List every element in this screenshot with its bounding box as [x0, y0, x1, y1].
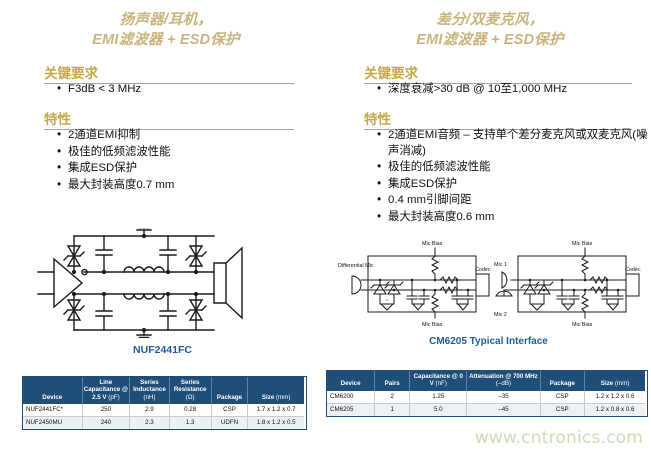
- list-item: 最大封装高度0.7 mm: [56, 178, 306, 194]
- left-spec-table-wrapper: Device Line Capacitance @ 2.5 V (pF) Ser…: [22, 376, 307, 430]
- cell: CM6205: [327, 403, 375, 416]
- table-row: CM6200 2 1.25 –35 CSP 1.2 x 1.2 x 0.6: [327, 391, 645, 404]
- table-row: NUF2450MU 240 2.3 1.3 UDFN 1.8 x 1.2 x 0…: [23, 417, 304, 430]
- right-title-line2: EMI滤波器 + ESD保护: [340, 30, 640, 50]
- col-header-capacitance: Capacitance @ 0 V (nF): [410, 371, 467, 391]
- col-header-pairs: Pairs: [375, 371, 410, 391]
- left-key-requirements-list: F3dB < 3 MHz: [56, 82, 306, 99]
- cell: 1.8 x 1.2 x 0.5: [248, 417, 304, 430]
- cell: CM6200: [327, 391, 375, 404]
- cell: 1.2 x 1.2 x 0.6: [585, 391, 645, 404]
- list-item: 集成ESD保护: [376, 177, 648, 193]
- left-key-requirements-heading: 关键要求: [44, 62, 294, 84]
- site-watermark: www.cntronics.com: [475, 428, 643, 448]
- list-item: 极佳的低频滤波性能: [376, 160, 648, 176]
- mic1-label: Mic 1: [494, 262, 507, 268]
- table-row: NUF2441FC* 250 2.9 0.28 CSP 1.7 x 1.2 x …: [23, 404, 304, 417]
- col-header-device: Device: [23, 377, 82, 404]
- right-features-list: 2通道EMI音频 – 支持单个差分麦克风或双麦克风(噪声消减) 极佳的低频滤波性…: [376, 128, 648, 226]
- cm6205-schematic-svg: Differential Mic Mic Bias Mic Bias Codec: [330, 238, 650, 333]
- cell: 1.7 x 1.2 x 0.7: [248, 404, 304, 417]
- left-features-heading: 特性: [44, 108, 294, 130]
- mic2-label: Mic 2: [494, 312, 507, 318]
- cell: NUF2450MU: [23, 417, 82, 430]
- cell: 1.3: [169, 417, 211, 430]
- cell: 0.28: [169, 404, 211, 417]
- codec-label-b: Codec: [625, 267, 641, 273]
- col-header-package: Package: [211, 377, 248, 404]
- list-item: 深度衰减>30 dB @ 10至1,000 MHz: [376, 82, 648, 98]
- left-column: 扬声器/耳机， EMI滤波器 + ESD保护 关键要求 F3dB < 3 MHz…: [0, 0, 325, 452]
- right-column: 差分/双麦克风， EMI滤波器 + ESD保护 关键要求 深度衰减>30 dB …: [326, 0, 651, 452]
- cell: NUF2441FC*: [23, 404, 82, 417]
- col-header-line-capacitance: Line Capacitance @ 2.5 V (pF): [82, 377, 130, 404]
- list-item: 极佳的低频滤波性能: [56, 145, 306, 161]
- list-item: 2通道EMI音频 – 支持单个差分麦克风或双麦克风(噪声消减): [376, 128, 648, 159]
- list-item: 0.4 mm引脚间距: [376, 193, 648, 209]
- list-item: F3dB < 3 MHz: [56, 82, 306, 98]
- cell: 1: [375, 403, 410, 416]
- right-features-heading: 特性: [364, 108, 632, 130]
- codec-label-a: Codec: [475, 267, 491, 273]
- cell: –35: [467, 391, 540, 404]
- nuf2441fc-schematic-svg: [36, 228, 296, 338]
- col-header-size: Size (mm): [585, 371, 645, 391]
- right-spec-table: Device Pairs Capacitance @ 0 V (nF) Atte…: [327, 371, 645, 416]
- slide-page: 扬声器/耳机， EMI滤波器 + ESD保护 关键要求 F3dB < 3 MHz…: [0, 0, 651, 452]
- cell: 2: [375, 391, 410, 404]
- mic-bias-bottom-label-a: Mic Bias: [422, 322, 443, 328]
- left-title-line1: 扬声器/耳机，: [18, 10, 314, 30]
- cell: 1.25: [410, 391, 467, 404]
- left-title: 扬声器/耳机， EMI滤波器 + ESD保护: [18, 10, 314, 50]
- left-title-line2: EMI滤波器 + ESD保护: [18, 30, 314, 50]
- mic-bias-top-label-b: Mic Bias: [572, 241, 593, 247]
- cell: 2.3: [130, 417, 169, 430]
- col-header-device: Device: [327, 371, 375, 391]
- cell: UDFN: [211, 417, 248, 430]
- list-item: 最大封装高度0.6 mm: [376, 210, 648, 226]
- mic-bias-bottom-label-b: Mic Bias: [572, 322, 593, 328]
- mic-bias-top-label-a: Mic Bias: [422, 241, 443, 247]
- right-title: 差分/双麦克风， EMI滤波器 + ESD保护: [340, 10, 640, 50]
- left-spec-table: Device Line Capacitance @ 2.5 V (pF) Ser…: [23, 377, 304, 429]
- list-item: 2通道EMI抑制: [56, 128, 306, 144]
- cell: 240: [82, 417, 130, 430]
- right-title-line1: 差分/双麦克风，: [340, 10, 640, 30]
- cell: CSP: [540, 391, 585, 404]
- col-header-series-inductance: Series Inductance (nH): [130, 377, 169, 404]
- right-key-requirements-heading: 关键要求: [364, 62, 632, 84]
- cell: 250: [82, 404, 130, 417]
- right-key-requirements-list: 深度衰减>30 dB @ 10至1,000 MHz: [376, 82, 648, 99]
- col-header-series-resistance: Series Resistance (Ω): [169, 377, 211, 404]
- left-features-list: 2通道EMI抑制 极佳的低频滤波性能 集成ESD保护 最大封装高度0.7 mm: [56, 128, 306, 194]
- cell: CSP: [540, 403, 585, 416]
- left-part-label: NUF2441FC: [0, 344, 325, 356]
- col-header-size: Size (mm): [248, 377, 304, 404]
- left-schematic-diagram: [36, 228, 296, 338]
- right-spec-table-wrapper: Device Pairs Capacitance @ 0 V (nF) Atte…: [326, 370, 648, 417]
- cell: –45: [467, 403, 540, 416]
- col-header-package: Package: [540, 371, 585, 391]
- table-row: CM6205 1 5.0 –45 CSP 1.2 x 0.8 x 0.6: [327, 403, 645, 416]
- cell: 1.2 x 0.8 x 0.6: [585, 403, 645, 416]
- table-header-row: Device Pairs Capacitance @ 0 V (nF) Atte…: [327, 371, 645, 391]
- right-part-label: CM6205 Typical Interface: [326, 336, 651, 347]
- table-header-row: Device Line Capacitance @ 2.5 V (pF) Ser…: [23, 377, 304, 404]
- cell: 2.9: [130, 404, 169, 417]
- col-header-attenuation: Attenuation @ 700 MHz (–dB): [467, 371, 540, 391]
- right-schematic-diagram: Differential Mic Mic Bias Mic Bias Codec: [330, 238, 650, 333]
- list-item: 集成ESD保护: [56, 161, 306, 177]
- cell: CSP: [211, 404, 248, 417]
- differential-mic-label: Differential Mic: [338, 263, 374, 269]
- cell: 5.0: [410, 403, 467, 416]
